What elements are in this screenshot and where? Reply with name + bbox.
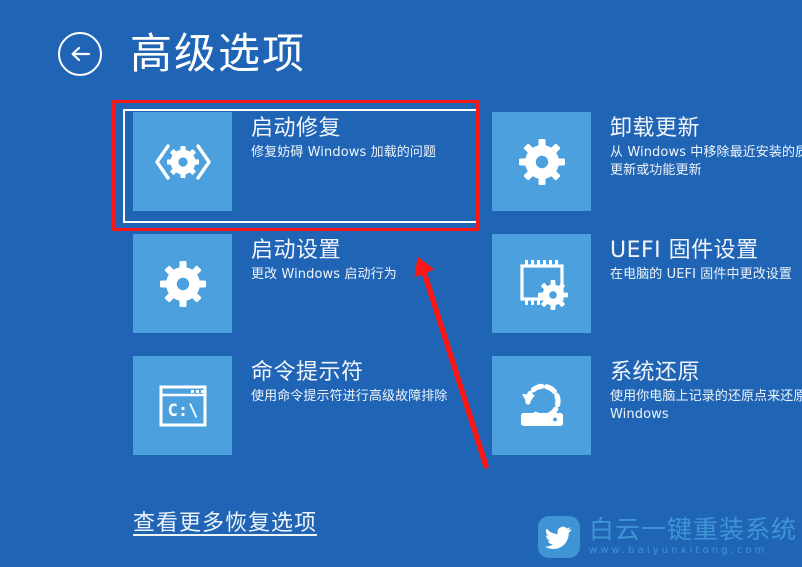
system-restore-icon (514, 380, 570, 432)
tile-text-container: 命令提示符 使用命令提示符进行高级故障排除 (251, 356, 448, 406)
page-header: 高级选项 (58, 22, 306, 86)
tile-description: 修复妨碍 Windows 加载的问题 (251, 144, 436, 162)
tile-icon-container (492, 356, 591, 455)
recovery-advanced-options-screen: 高级选项 (0, 0, 802, 567)
tile-title: 卸载更新 (610, 115, 802, 142)
bird-icon (545, 525, 573, 549)
tile-title: 启动设置 (251, 237, 397, 264)
startup-repair-icon (152, 142, 214, 182)
tile-text-container: 卸载更新 从 Windows 中移除最近安装的质量更新或功能更新 (610, 112, 802, 180)
tile-title: 系统还原 (610, 359, 802, 386)
option-tile-startup-settings[interactable]: 启动设置 更改 Windows 启动行为 (133, 234, 463, 352)
uefi-chip-icon (513, 255, 571, 313)
svg-text:C:\: C:\ (167, 401, 198, 421)
tile-description: 使用命令提示符进行高级故障排除 (251, 388, 448, 406)
gear-icon (157, 258, 209, 310)
tile-title: 命令提示符 (251, 359, 448, 386)
option-tile-system-restore[interactable]: 系统还原 使用你电脑上记录的还原点来还原 Windows (492, 356, 802, 474)
tile-title: 启动修复 (251, 115, 436, 142)
tile-description: 使用你电脑上记录的还原点来还原 Windows (610, 388, 802, 424)
options-grid: 启动修复 修复妨碍 Windows 加载的问题 (133, 112, 793, 462)
watermark-url: www.baiyunxitong.com (589, 544, 797, 557)
watermark-text: 白云一键重装系统 www.baiyunxitong.com (589, 517, 797, 557)
tile-description: 在电脑的 UEFI 固件中更改设置 (610, 266, 792, 284)
tile-text-container: 启动设置 更改 Windows 启动行为 (251, 234, 397, 284)
see-more-recovery-options-link[interactable]: 查看更多恢复选项 (133, 510, 317, 538)
tile-text-container: 系统还原 使用你电脑上记录的还原点来还原 Windows (610, 356, 802, 424)
tile-text-container: UEFI 固件设置 在电脑的 UEFI 固件中更改设置 (610, 234, 792, 284)
tile-title: UEFI 固件设置 (610, 237, 792, 264)
gear-icon (516, 136, 568, 188)
option-tile-uefi-firmware-settings[interactable]: UEFI 固件设置 在电脑的 UEFI 固件中更改设置 (492, 234, 802, 352)
tile-icon-container (492, 112, 591, 211)
command-prompt-icon: C:\ (157, 382, 209, 430)
option-tile-uninstall-updates[interactable]: 卸载更新 从 Windows 中移除最近安装的质量更新或功能更新 (492, 112, 802, 230)
tile-icon-container (133, 112, 232, 211)
watermark: 白云一键重装系统 www.baiyunxitong.com (538, 516, 797, 558)
tile-icon-container: C:\ (133, 356, 232, 455)
tile-description: 从 Windows 中移除最近安装的质量更新或功能更新 (610, 144, 802, 180)
tile-icon-container (492, 234, 591, 333)
option-tile-startup-repair[interactable]: 启动修复 修复妨碍 Windows 加载的问题 (133, 112, 463, 230)
tile-description: 更改 Windows 启动行为 (251, 266, 397, 284)
tile-text-container: 启动修复 修复妨碍 Windows 加载的问题 (251, 112, 436, 162)
page-title: 高级选项 (130, 33, 306, 75)
watermark-brand: 白云一键重装系统 (589, 517, 797, 543)
back-arrow-icon (67, 41, 93, 67)
watermark-badge (538, 516, 580, 558)
tile-icon-container (133, 234, 232, 333)
option-tile-command-prompt[interactable]: C:\ 命令提示符 使用命令提示符进行高级故障排除 (133, 356, 463, 474)
back-button[interactable] (58, 32, 102, 76)
